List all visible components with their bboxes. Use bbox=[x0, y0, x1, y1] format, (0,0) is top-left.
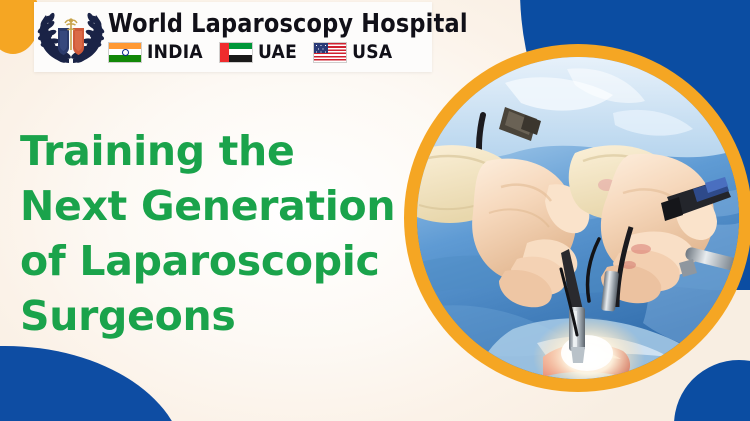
surgery-photo bbox=[417, 57, 739, 379]
logo-text-block: World Laparoscopy Hospital INDIA UAE USA bbox=[106, 11, 483, 62]
flag-usa-icon bbox=[313, 42, 347, 63]
blue-ellipse-decoration-bottom-left-fill bbox=[0, 404, 130, 421]
country-label-usa: USA bbox=[352, 43, 392, 62]
promo-banner: World Laparoscopy Hospital INDIA UAE USA bbox=[0, 0, 750, 421]
flag-uae-icon bbox=[219, 42, 253, 63]
surgery-photo-illustration bbox=[417, 57, 739, 379]
headline: Training the Next Generation of Laparosc… bbox=[20, 124, 420, 344]
blue-circle-decoration-bottom-right bbox=[674, 360, 750, 421]
country-label-uae: UAE bbox=[258, 43, 297, 62]
laurel-wreath-caduceus-emblem bbox=[36, 6, 106, 68]
surgery-photo-ring bbox=[404, 44, 750, 392]
headline-line-3: of Laparoscopic bbox=[20, 234, 420, 289]
flag-india-icon bbox=[108, 42, 142, 63]
headline-line-1: Training the bbox=[20, 124, 420, 179]
hospital-logo-card: World Laparoscopy Hospital INDIA UAE USA bbox=[34, 2, 432, 72]
headline-line-2: Next Generation bbox=[20, 179, 420, 234]
emblem-svg bbox=[36, 6, 106, 68]
country-label-india: INDIA bbox=[147, 43, 203, 62]
country-flags-row: INDIA UAE USA bbox=[108, 42, 483, 63]
headline-line-4: Surgeons bbox=[20, 289, 420, 344]
hospital-name: World Laparoscopy Hospital bbox=[108, 11, 468, 38]
